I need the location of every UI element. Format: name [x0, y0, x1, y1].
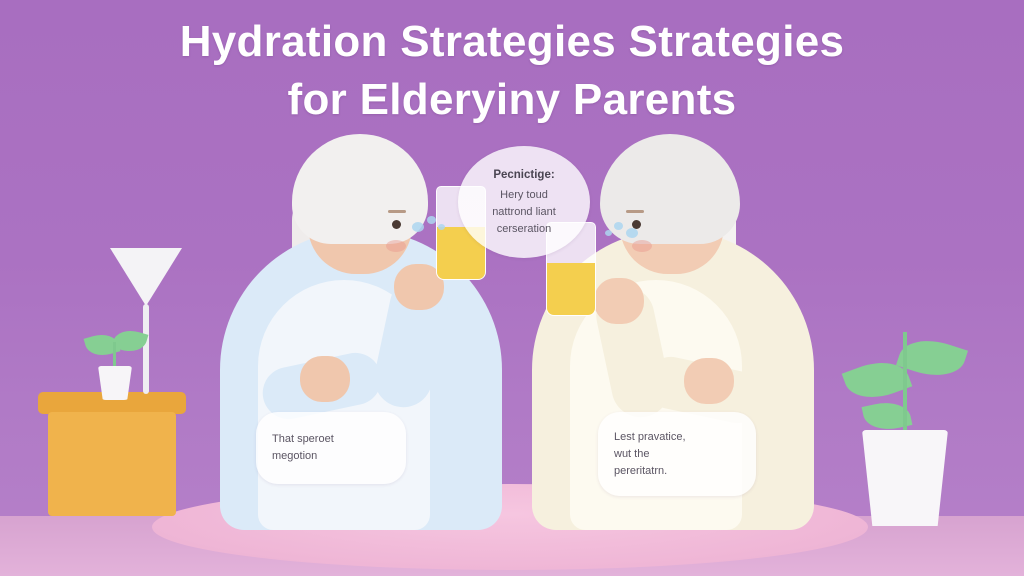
eye [392, 220, 401, 229]
small-potted-plant [78, 318, 150, 400]
bubble-top-heading: Pecnictige: [493, 167, 554, 184]
resting-hand [300, 356, 350, 402]
plant-pot [98, 366, 132, 400]
bubble-top-line1: Hery toud [500, 187, 548, 204]
bubble-top-line3: cerseration [497, 221, 551, 238]
side-table-body [48, 412, 176, 516]
info-bubble-right: Lest pravatice, wut the pereritatrn. [598, 412, 756, 496]
lamp-shade-icon [110, 248, 182, 306]
bubble-top-line2: nattrond liant [492, 204, 556, 221]
water-droplets-icon [598, 222, 638, 242]
large-potted-plant [838, 286, 970, 526]
resting-hand [684, 358, 734, 404]
bubble-right-line1: Lest pravatice, [614, 429, 740, 446]
title-line-1: Hydration Strategies Strategies [0, 14, 1024, 70]
droplet [412, 222, 424, 232]
droplet [614, 222, 623, 230]
droplet [626, 228, 638, 238]
info-bubble-left: That speroet megotion [256, 412, 406, 484]
droplet [438, 224, 445, 230]
eyebrow [626, 210, 644, 213]
droplet [427, 216, 436, 224]
bubble-right-line2: wut the [614, 446, 740, 463]
hair [292, 134, 428, 244]
illustration-scene: Pecnictige: Hery toud nattrond liant cer… [0, 0, 1024, 576]
water-droplets-icon [412, 216, 452, 236]
cheek-blush [386, 240, 406, 252]
bubble-left-line1: That speroet [272, 431, 390, 448]
info-bubble-top: Pecnictige: Hery toud nattrond liant cer… [458, 146, 590, 258]
hand-holding-glass [594, 278, 644, 324]
bubble-right-line3: pereritatrn. [614, 463, 740, 480]
plant-pot [862, 430, 948, 526]
plant-stem [903, 332, 907, 440]
droplet [605, 230, 612, 236]
eyebrow [388, 210, 406, 213]
side-table [38, 392, 186, 516]
bubble-left-line2: megotion [272, 448, 390, 465]
juice-liquid [547, 263, 595, 315]
